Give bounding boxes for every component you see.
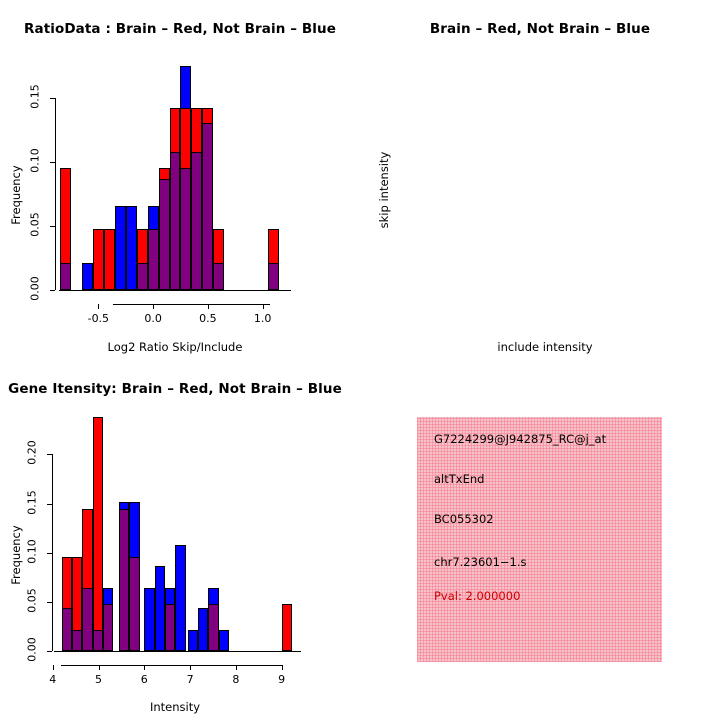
gene-histogram-ylabel: Frequency: [9, 515, 23, 595]
info-coordinate: chr7.23601−1.s: [434, 555, 527, 569]
histogram-bar-blue: [198, 608, 208, 651]
y-axis-tick-label: 0.15: [26, 488, 39, 516]
histogram-bin: [188, 0, 198, 651]
histogram-bin: [72, 0, 82, 651]
histogram-bar-overlap: [208, 604, 218, 651]
y-axis-tick: [47, 454, 52, 455]
info-probe-id: G7224299@J942875_RC@j_at: [434, 432, 606, 446]
x-axis-tick: [236, 665, 237, 670]
histogram-bin: [103, 0, 113, 651]
histogram-bin: [165, 0, 175, 651]
histogram-bar-blue: [188, 630, 198, 651]
y-axis-tick-label: 0.00: [26, 636, 39, 664]
x-axis-tick: [144, 665, 145, 670]
info-panel-background: G7224299@J942875_RC@j_at altTxEnd BC0553…: [417, 417, 662, 662]
histogram-bar-overlap: [119, 509, 129, 651]
histogram-bar-overlap: [72, 630, 82, 651]
x-axis-tick: [190, 665, 191, 670]
histogram-bin: [155, 0, 165, 651]
info-event-type: altTxEnd: [434, 472, 484, 486]
panel-gene-histogram: Gene Itensity: Brain – Red, Not Brain – …: [0, 360, 360, 720]
histogram-bar-overlap: [82, 588, 92, 651]
x-axis-tick-label: 4: [31, 673, 75, 686]
histogram-bar-blue: [144, 588, 154, 651]
x-axis-tick-label: 5: [77, 673, 121, 686]
y-axis-line: [52, 454, 53, 651]
x-axis-tick: [282, 665, 283, 670]
x-axis-tick-label: 8: [214, 673, 258, 686]
panel-scatter: Brain – Red, Not Brain – Blue 4567894681…: [360, 0, 720, 360]
y-axis-tick-label: 0.20: [26, 439, 39, 467]
figure-canvas: RatioData : Brain – Red, Not Brain – Blu…: [0, 0, 720, 720]
histogram-bar-overlap: [129, 557, 139, 651]
y-axis-tick: [47, 651, 52, 652]
histogram-bar-blue: [219, 630, 229, 651]
histogram-bin: [144, 0, 154, 651]
histogram-bar-overlap: [165, 604, 175, 651]
scatter-ylabel: skip intensity: [377, 150, 391, 230]
histogram-bin: [219, 0, 229, 651]
histogram-bin: [175, 0, 185, 651]
histogram-bin: [82, 0, 92, 651]
histogram-bar-overlap: [93, 630, 103, 651]
gene-histogram-xlabel: Intensity: [60, 700, 290, 714]
scatter-xlabel: include intensity: [430, 340, 660, 354]
x-axis-tick-label: 7: [168, 673, 212, 686]
histogram-bin: [62, 0, 72, 651]
histogram-baseline: [54, 651, 301, 652]
y-axis-tick: [47, 504, 52, 505]
histogram-bar-blue: [155, 566, 165, 651]
gene-histogram-plot-area: 0.000.050.100.150.20456789: [0, 0, 360, 720]
histogram-bar-blue: [175, 545, 185, 651]
x-axis-tick: [53, 665, 54, 670]
y-axis-tick-label: 0.10: [26, 537, 39, 565]
x-axis-tick-label: 9: [260, 673, 304, 686]
x-axis-line: [61, 665, 282, 666]
info-pval: Pval: 2.000000: [434, 589, 520, 603]
y-axis-tick: [47, 553, 52, 554]
histogram-bin: [119, 0, 129, 651]
histogram-bar-red: [93, 417, 103, 651]
y-axis-tick: [47, 602, 52, 603]
histogram-bin: [208, 0, 218, 651]
x-axis-tick-label: 6: [122, 673, 166, 686]
panel-info: G7224299@J942875_RC@j_at altTxEnd BC0553…: [360, 360, 720, 720]
histogram-bar-overlap: [103, 604, 113, 651]
histogram-bar-red: [282, 604, 292, 651]
x-axis-tick: [99, 665, 100, 670]
info-accession: BC055302: [434, 512, 494, 526]
histogram-bin: [198, 0, 208, 651]
histogram-bar-overlap: [62, 608, 72, 651]
histogram-bin: [93, 0, 103, 651]
histogram-bin: [129, 0, 139, 651]
scatter-title: Brain – Red, Not Brain – Blue: [360, 21, 720, 37]
y-axis-tick-label: 0.05: [26, 586, 39, 614]
histogram-bin: [282, 0, 292, 651]
